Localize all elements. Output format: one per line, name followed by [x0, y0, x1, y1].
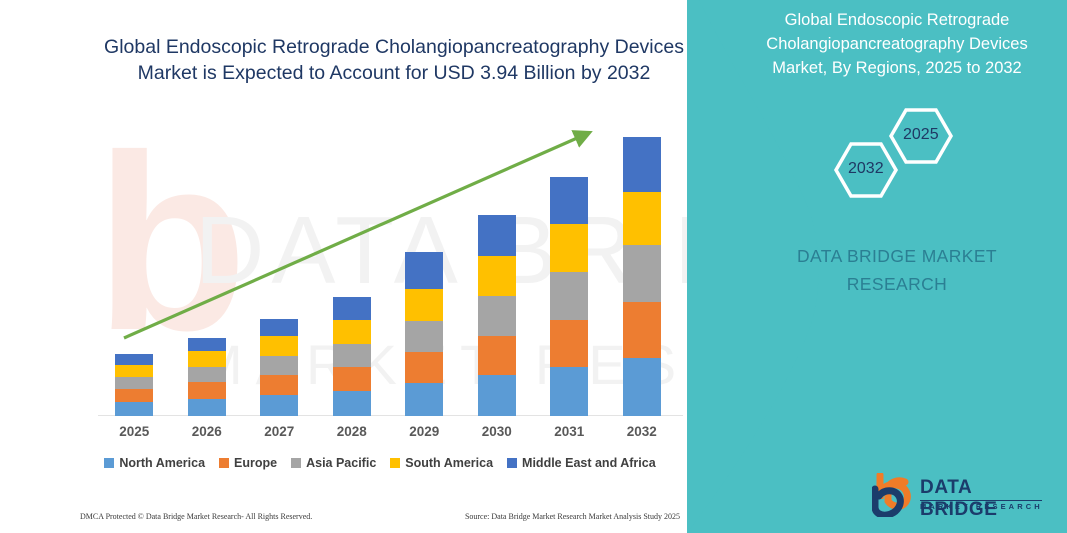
legend-item-2[interactable]: Asia Pacific	[291, 456, 376, 470]
legend-item-0[interactable]: North America	[104, 456, 205, 470]
legend-label: North America	[119, 456, 205, 470]
legend-swatch-icon	[507, 458, 517, 468]
bar-segment-2030-2	[478, 296, 516, 336]
bar-segment-2026-0	[188, 399, 226, 416]
chart-x-axis-labels: 20252026202720282029203020312032	[98, 424, 678, 444]
bar-segment-2028-0	[333, 391, 371, 416]
bar-segment-2029-0	[405, 383, 443, 416]
bar-segment-2030-4	[478, 215, 516, 256]
bar-segment-2030-1	[478, 336, 516, 375]
bar-segment-2026-4	[188, 338, 226, 351]
x-axis-label-2025: 2025	[99, 424, 169, 439]
bar-segment-2032-1	[623, 302, 661, 358]
footer-source: Source: Data Bridge Market Research Mark…	[465, 512, 680, 521]
footer: DMCA Protected © Data Bridge Market Rese…	[80, 508, 680, 524]
legend-label: Middle East and Africa	[522, 456, 656, 470]
bar-segment-2025-3	[115, 365, 153, 377]
legend-item-4[interactable]: Middle East and Africa	[507, 456, 656, 470]
logo-divider	[920, 500, 1042, 501]
bar-2026	[188, 338, 226, 416]
bar-segment-2025-2	[115, 377, 153, 389]
bar-segment-2029-2	[405, 321, 443, 352]
bar-segment-2027-0	[260, 395, 298, 416]
bar-2031	[550, 177, 588, 416]
bar-segment-2025-0	[115, 402, 153, 416]
legend-item-3[interactable]: South America	[390, 456, 493, 470]
bar-segment-2027-3	[260, 336, 298, 356]
bar-segment-2027-2	[260, 356, 298, 375]
bar-segment-2032-3	[623, 192, 661, 245]
legend-item-1[interactable]: Europe	[219, 456, 277, 470]
legend-swatch-icon	[390, 458, 400, 468]
logo-secondary-text: MARKET RESEARCH	[920, 502, 1043, 511]
bar-segment-2026-2	[188, 367, 226, 382]
bar-segment-2029-1	[405, 352, 443, 383]
bar-segment-2029-4	[405, 252, 443, 289]
x-axis-label-2030: 2030	[462, 424, 532, 439]
bar-segment-2025-1	[115, 389, 153, 402]
footer-copyright: DMCA Protected © Data Bridge Market Rese…	[80, 512, 312, 521]
stacked-bar-chart	[98, 110, 678, 416]
bar-segment-2028-4	[333, 297, 371, 320]
legend-label: Asia Pacific	[306, 456, 376, 470]
bar-segment-2027-4	[260, 319, 298, 336]
logo-mark-icon	[872, 473, 918, 517]
bar-segment-2028-2	[333, 344, 371, 367]
bar-segment-2027-1	[260, 375, 298, 395]
bar-2025	[115, 354, 153, 416]
logo-primary-text: DATA BRIDGE	[920, 477, 1047, 521]
bar-segment-2031-2	[550, 272, 588, 320]
bar-2030	[478, 215, 516, 416]
x-axis-label-2026: 2026	[172, 424, 242, 439]
x-axis-label-2032: 2032	[607, 424, 677, 439]
right-panel-title: Global Endoscopic Retrograde Cholangiopa…	[757, 8, 1037, 80]
bar-segment-2032-2	[623, 245, 661, 302]
bar-2027	[260, 319, 298, 416]
x-axis-label-2029: 2029	[389, 424, 459, 439]
bar-segment-2025-4	[115, 354, 153, 365]
legend-label: South America	[405, 456, 493, 470]
bar-segment-2031-4	[550, 177, 588, 224]
bar-segment-2031-3	[550, 224, 588, 272]
bar-segment-2026-1	[188, 382, 226, 399]
legend-label: Europe	[234, 456, 277, 470]
bar-segment-2029-3	[405, 289, 443, 321]
x-axis-label-2028: 2028	[317, 424, 387, 439]
legend-swatch-icon	[219, 458, 229, 468]
hexagon-group: 2025 2032	[818, 96, 998, 206]
data-bridge-logo: DATA BRIDGE MARKET RESEARCH	[872, 473, 1047, 521]
bar-segment-2031-1	[550, 320, 588, 367]
bar-2029	[405, 252, 443, 416]
bar-segment-2026-3	[188, 351, 226, 367]
hexagon-label-2032: 2032	[848, 160, 884, 178]
page-title: Global Endoscopic Retrograde Cholangiopa…	[104, 34, 684, 86]
bar-2032	[623, 137, 661, 416]
hexagon-shapes	[818, 96, 998, 206]
bar-segment-2028-3	[333, 320, 371, 344]
bar-segment-2032-0	[623, 358, 661, 416]
x-axis-label-2031: 2031	[534, 424, 604, 439]
right-panel-brand: DATA BRIDGE MARKET RESEARCH	[757, 242, 1037, 298]
hexagon-label-2025: 2025	[903, 126, 939, 144]
bar-segment-2028-1	[333, 367, 371, 391]
x-axis-label-2027: 2027	[244, 424, 314, 439]
chart-legend: North AmericaEuropeAsia PacificSouth Ame…	[80, 456, 680, 470]
legend-swatch-icon	[291, 458, 301, 468]
legend-swatch-icon	[104, 458, 114, 468]
bar-segment-2030-0	[478, 375, 516, 416]
bar-segment-2032-4	[623, 137, 661, 192]
bar-2028	[333, 297, 371, 416]
bar-segment-2030-3	[478, 256, 516, 296]
bar-segment-2031-0	[550, 367, 588, 416]
